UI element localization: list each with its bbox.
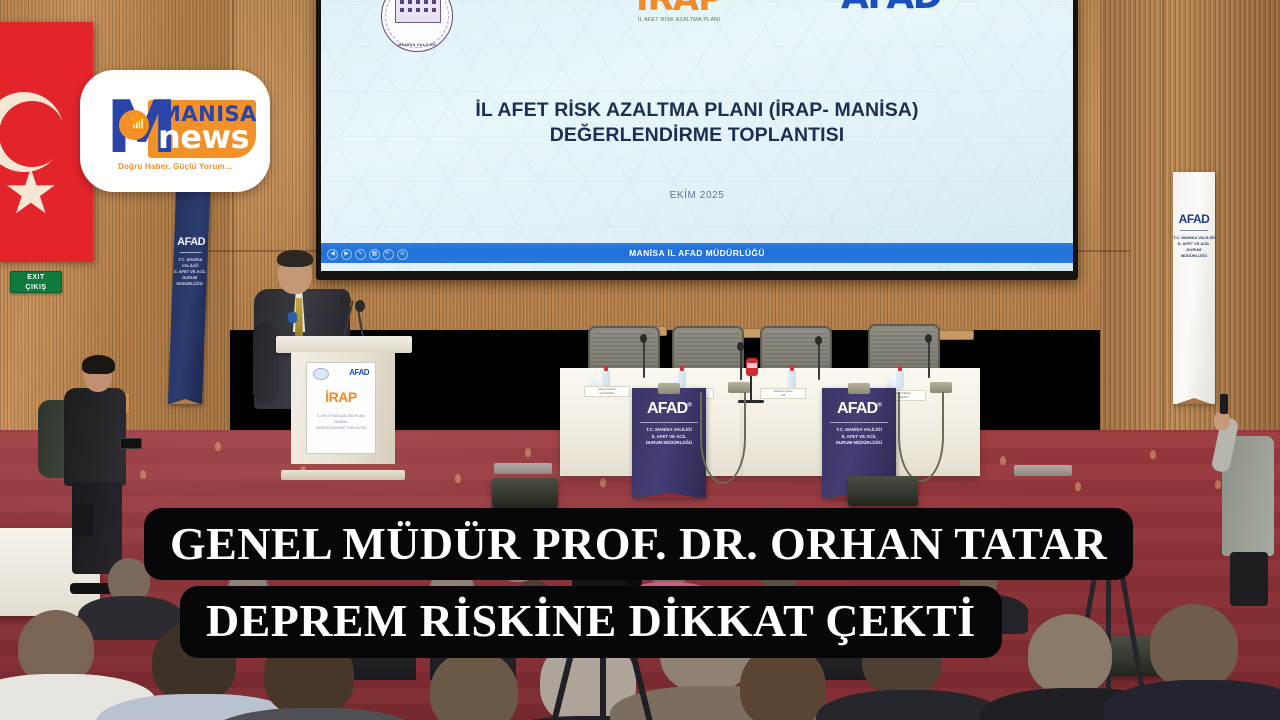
mobile-phone [1220, 394, 1228, 414]
wall-banner-left-sub1: T.C. MANİSA VALİLİĞİ [173, 257, 207, 269]
microphone-head-icon [640, 334, 647, 343]
logo-brand-bottom: news [158, 120, 249, 154]
table-banner-afad-left: AFAD® T.C. MANİSA VALİLİĞİ İL AFET VE AC… [632, 388, 706, 498]
podium-top [276, 336, 412, 353]
slide-title-line1: İL AFET RİSK AZALTMA PLANI (İRAP- MANİSA… [321, 98, 1073, 123]
zoom-icon[interactable]: 🔍 [383, 249, 394, 260]
wall-banner-right-afad: AFAD T.C. MANİSA VALİLİĞİ İL AFET VE ACİ… [1173, 172, 1215, 404]
microphone-head-icon [355, 300, 365, 312]
presentation-slide: MANİSA VALİLİĞİ İRAP İL AFET RİSK AZALTM… [321, 0, 1073, 271]
slide-date: EKİM 2025 [321, 190, 1073, 201]
gooseneck-microphone [818, 340, 820, 380]
seal-label: MANİSA VALİLİĞİ [382, 42, 452, 47]
slide-title: İL AFET RİSK AZALTMA PLANI (İRAP- MANİSA… [321, 98, 1073, 148]
slide-title-line2: DEĞERLENDİRME TOPLANTISI [321, 123, 1073, 148]
caption-line-1: GENEL MÜDÜR PROF. DR. ORHAN TATAR [144, 508, 1133, 580]
attendee-hand [1214, 412, 1230, 430]
manisa-valiligi-seal-icon: MANİSA VALİLİĞİ [381, 0, 453, 52]
banner-tail [632, 493, 706, 498]
divider [1180, 230, 1208, 231]
afad-logo-text: AFAD [841, 0, 981, 16]
photographer-hair [82, 355, 115, 374]
gooseneck-microphone [928, 338, 930, 378]
seal-building-icon [395, 0, 441, 23]
cable-loop [898, 392, 944, 482]
exit-sign-line2: ÇIKIŞ [11, 283, 61, 293]
placard-irap-text: İRAP [307, 389, 375, 405]
slide-footer-text: MANİSA İL AFAD MÜDÜRLÜĞÜ [629, 248, 765, 258]
irap-logo-text: İRAP [609, 0, 749, 16]
speaker-hair [277, 250, 313, 267]
name-card-role: Vali [761, 394, 805, 398]
floor-monitor-speaker [492, 478, 558, 508]
irap-logo: İRAP İL AFET RİSK AZALTMA PLANI [609, 0, 749, 23]
banner-tail [1173, 398, 1215, 404]
microphone-head-icon [925, 334, 932, 343]
slide-logo-row: MANİSA VALİLİĞİ İRAP İL AFET RİSK AZALTM… [321, 0, 1073, 48]
name-card: Vahdettin Özkan Vali [760, 388, 806, 399]
name-card-role: Genel Müdür [585, 392, 629, 396]
divider [830, 422, 888, 423]
table-banner-title: AFAD® [632, 400, 706, 418]
microphone-flag-badge [288, 312, 297, 323]
podium-placard: AFAD İRAP İL AFET RİSK AZALTMA PLANI MAN… [306, 362, 376, 454]
table-banner-sub3: DURUM MÜDÜRLÜĞÜ [632, 440, 706, 447]
mic-stand [750, 376, 752, 402]
projection-screen-bezel: MANİSA VALİLİĞİ İRAP İL AFET RİSK AZALTM… [316, 0, 1078, 280]
caption-line-2: DEPREM RİSKİNE DİKKAT ÇEKTİ [180, 586, 1002, 658]
microphone-head-icon [815, 336, 822, 345]
floor-outlet-plate [1014, 465, 1072, 476]
slide-footer-bar: MANİSA İL AFAD MÜDÜRLÜĞÜ [321, 243, 1073, 263]
irap-logo-subtitle: İL AFET RİSK AZALTMA PLANI [609, 17, 749, 23]
banner-clip [658, 383, 680, 394]
flag-star-icon: ★ [3, 170, 59, 216]
banner-tail [168, 399, 202, 404]
photo-canvas: ★ EXIT ÇIKIŞ AFAD T.C. MANİSA VALİLİĞİ İ… [0, 0, 1280, 720]
floor-monitor-speaker [848, 476, 918, 506]
wall-banner-right-title: AFAD [1173, 212, 1215, 226]
water-bottle [788, 370, 796, 390]
water-bottle [896, 370, 904, 390]
camera [72, 504, 94, 536]
microphone-head-icon [340, 294, 351, 307]
speaker-arm [253, 322, 279, 404]
broadcast-signal-icon: 📶 [130, 116, 138, 134]
wall-banner-left-title: AFAD [174, 236, 208, 248]
placard-subtext-line3: DEĞERLENDİRME TOPLANTISI [307, 425, 375, 431]
placard-seal-icon [313, 368, 329, 380]
microphone-head-icon [737, 342, 744, 351]
photographer-torso [64, 388, 126, 486]
divider [180, 252, 202, 253]
afad-logo: AFAD [841, 0, 981, 16]
floor-outlet-plate [494, 463, 552, 474]
red-broadcast-microphone [746, 358, 758, 376]
name-card: Adnan Özdemir Genel Müdür [584, 386, 630, 397]
gooseneck-microphone [740, 346, 742, 380]
mobile-phone [120, 438, 142, 449]
banner-clip [848, 383, 870, 394]
wall-banner-right-sub3: DURUM MÜDÜRLÜĞÜ [1173, 247, 1215, 259]
logo-tagline: Doğru Haber, Güçlü Yorum... [80, 162, 270, 171]
podium-base [281, 470, 405, 480]
divider [640, 422, 698, 423]
more-options-icon[interactable]: ⊖ [397, 249, 408, 260]
slide-grid-icon[interactable]: ▦ [369, 249, 380, 260]
gooseneck-microphone [643, 338, 645, 378]
table-banner-title: AFAD® [822, 400, 896, 418]
speaker-podium: AFAD İRAP İL AFET RİSK AZALTMA PLANI MAN… [285, 336, 403, 476]
exit-sign-line1: EXIT [11, 273, 61, 283]
cable-loop [700, 392, 746, 484]
wall-banner-left-sub3: DURUM MÜDÜRLÜĞÜ [172, 275, 206, 287]
placard-subtext: İL AFET RİSK AZALTMA PLANI MANİSA DEĞERL… [307, 413, 375, 431]
placard-afad-text: AFAD [349, 368, 369, 377]
exit-sign: EXIT ÇIKIŞ [10, 271, 62, 293]
table-banner-sub3: DURUM MÜDÜRLÜĞÜ [822, 440, 896, 447]
manisa-news-logo: M 📶 MANISA news Doğru Haber, Güçlü Yorum… [80, 70, 270, 192]
